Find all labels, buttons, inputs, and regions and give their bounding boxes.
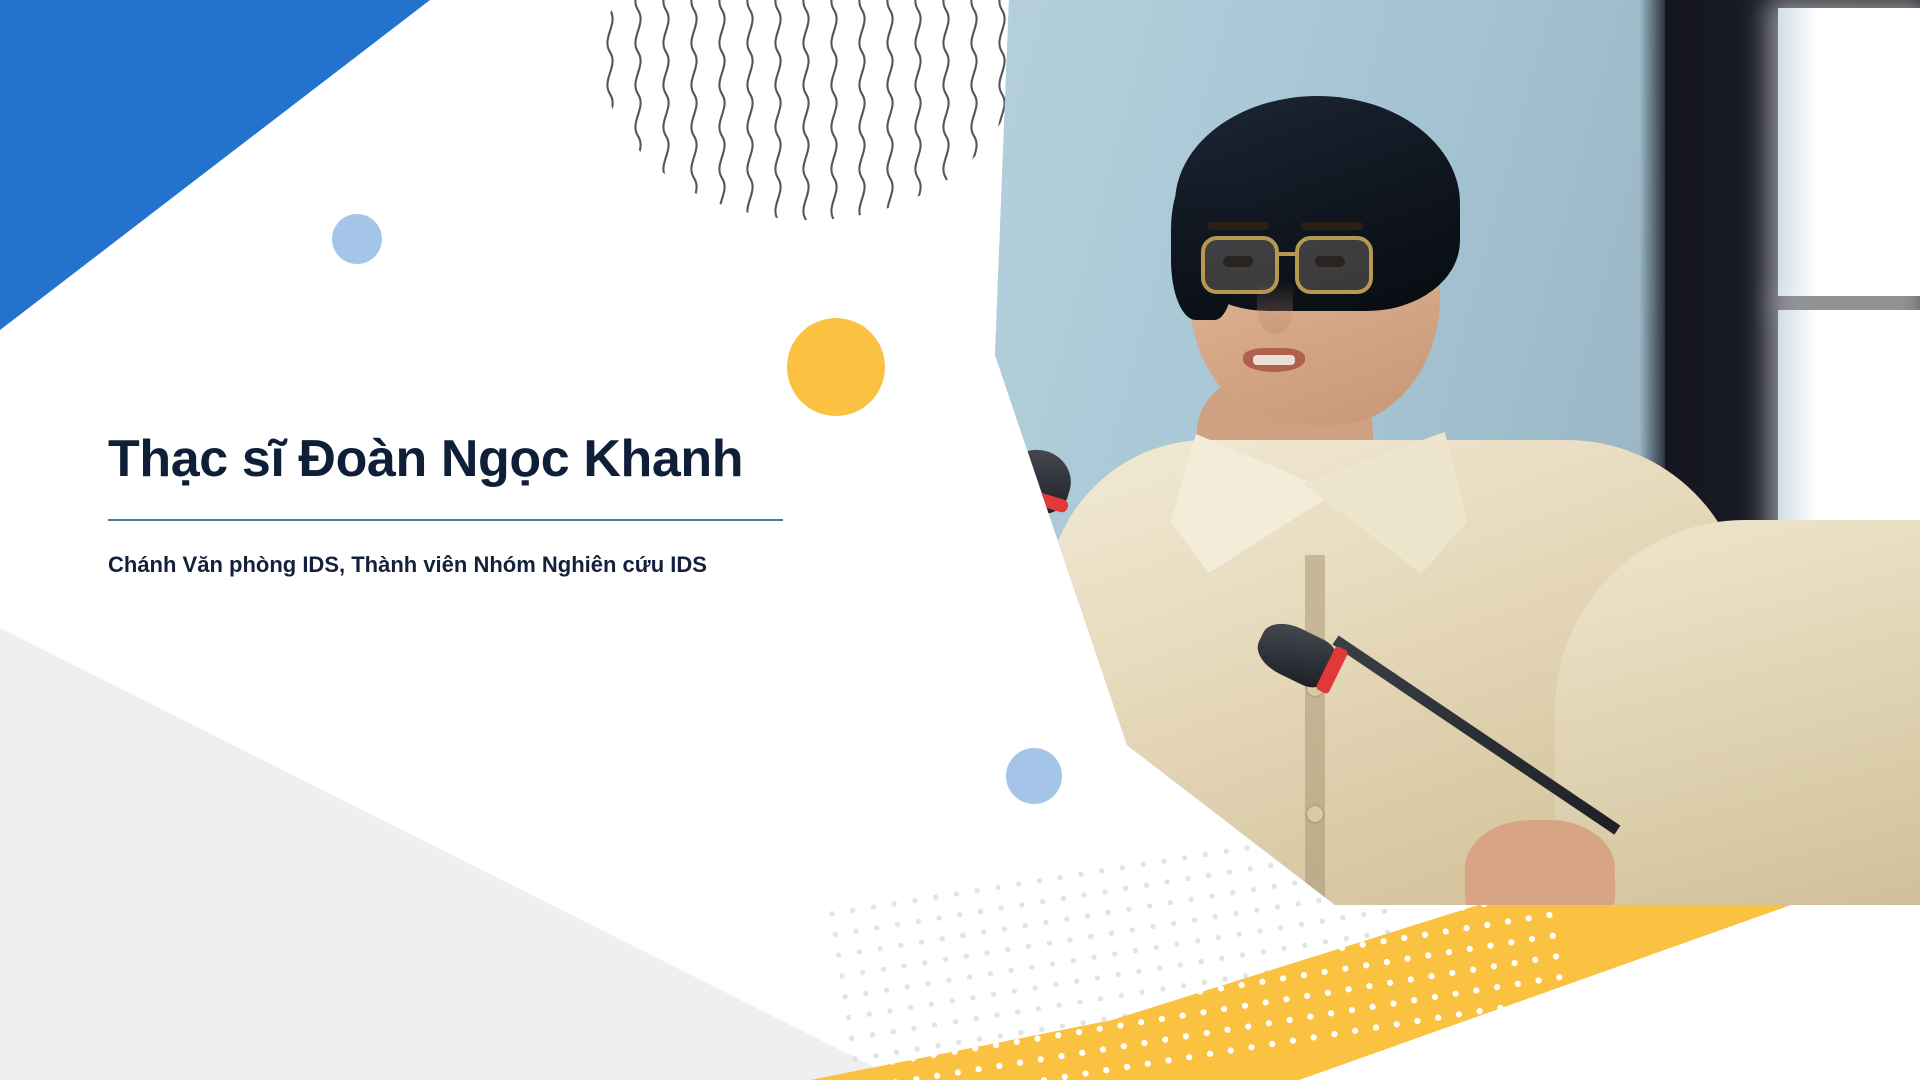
eye-right: [1315, 256, 1345, 267]
wavy-line-cluster-icon: [600, 0, 1020, 220]
window-pane-top: [1778, 8, 1920, 296]
shirt-button-lower: [1307, 806, 1323, 822]
speaker-role: Chánh Văn phòng IDS, Thành viên Nhóm Ngh…: [108, 551, 788, 580]
speaker-text-block: Thạc sĩ Đoàn Ngọc Khanh Chánh Văn phòng …: [108, 430, 788, 580]
teeth: [1253, 355, 1295, 365]
shirt-right-shoulder: [1555, 520, 1920, 905]
yellow-circle: [787, 318, 885, 416]
speaker-portrait: [995, 0, 1920, 905]
eyebrow-right: [1301, 222, 1363, 230]
portrait-image: [995, 0, 1920, 905]
speaker-name: Thạc sĩ Đoàn Ngọc Khanh: [108, 430, 788, 489]
slide-canvas: Thạc sĩ Đoàn Ngọc Khanh Chánh Văn phòng …: [0, 0, 1920, 1080]
glasses-bridge: [1279, 252, 1297, 256]
nose: [1257, 282, 1293, 334]
eye-left: [1223, 256, 1253, 267]
blue-corner-triangle: [0, 0, 430, 330]
hand: [1465, 820, 1615, 905]
eyebrow-left: [1207, 222, 1269, 230]
shirt-placket: [1305, 555, 1325, 905]
gray-corner-triangle: [0, 560, 900, 1080]
microphone-stem-left: [995, 499, 1043, 721]
light-blue-circle-top: [332, 214, 382, 264]
title-divider-rule: [108, 519, 783, 521]
light-blue-circle-bottom: [1006, 748, 1062, 804]
